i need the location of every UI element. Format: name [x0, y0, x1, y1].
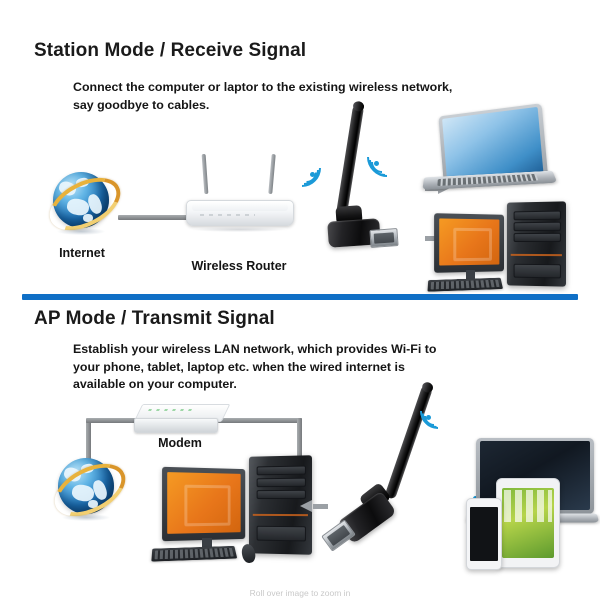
- cable-internet-to-router: [118, 215, 190, 220]
- monitor: [434, 213, 504, 273]
- internet-globe: [47, 166, 115, 236]
- cable-modem-to-pc: [218, 418, 302, 423]
- laptop: [418, 110, 563, 195]
- monitor-screen: [439, 218, 499, 265]
- usb-wifi-adapter: [322, 378, 422, 568]
- desktop-computer: [428, 196, 578, 292]
- modem-front: [134, 418, 218, 433]
- router-shadow: [192, 227, 285, 232]
- monitor: [162, 467, 245, 541]
- label-internet: Internet: [42, 246, 122, 260]
- tablet: [496, 478, 560, 568]
- desktop-computer: [158, 452, 318, 562]
- router-antenna-right: [268, 154, 275, 194]
- internet-globe: [52, 452, 120, 522]
- body-line: Establish your wireless LAN network, whi…: [73, 341, 503, 359]
- globe-shadow: [57, 228, 105, 235]
- usb-wifi-adapter: [312, 98, 408, 278]
- router-body: [186, 200, 294, 226]
- pc-tower: [507, 201, 566, 286]
- product-feature-image: Station Mode / Receive Signal Connect th…: [0, 0, 600, 600]
- tablet-app-icons: [504, 490, 552, 522]
- monitor-screen: [167, 472, 240, 534]
- wifi-signal-icon-1: [424, 396, 456, 428]
- router-leds: [200, 214, 255, 216]
- body-line: your phone, tablet, laptop etc. when the…: [73, 359, 503, 377]
- keyboard: [427, 278, 503, 292]
- body-line: available on your computer.: [73, 376, 503, 394]
- laptop-screen: [442, 107, 543, 179]
- body-line: Connect the computer or laptor to the ex…: [73, 79, 503, 97]
- router-top-panel: [192, 202, 287, 211]
- smartphone: [466, 498, 502, 570]
- wireless-router: [186, 186, 292, 232]
- adapter-usb-plug: [369, 228, 398, 248]
- section-body-ap-mode: Establish your wireless LAN network, whi…: [73, 341, 503, 394]
- section-body-station-mode: Connect the computer or laptor to the ex…: [73, 79, 503, 114]
- section-heading-station-mode: Station Mode / Receive Signal: [34, 40, 306, 62]
- keyboard: [151, 546, 237, 562]
- modem: [134, 404, 226, 434]
- label-modem: Modem: [126, 436, 234, 450]
- section-divider: [22, 294, 578, 300]
- adapter-antenna: [336, 104, 364, 214]
- globe-shadow: [62, 514, 110, 521]
- zoom-hint-text: Roll over image to zoom in: [0, 588, 600, 598]
- label-wireless-router: Wireless Router: [174, 259, 304, 273]
- modem-leds: [148, 409, 195, 411]
- section-heading-ap-mode: AP Mode / Transmit Signal: [34, 308, 275, 330]
- router-antenna-left: [202, 154, 209, 194]
- phone-screen: [470, 507, 498, 561]
- laptop-lid: [438, 103, 548, 182]
- laptop-keyboard: [437, 174, 538, 186]
- tablet-screen: [502, 488, 554, 558]
